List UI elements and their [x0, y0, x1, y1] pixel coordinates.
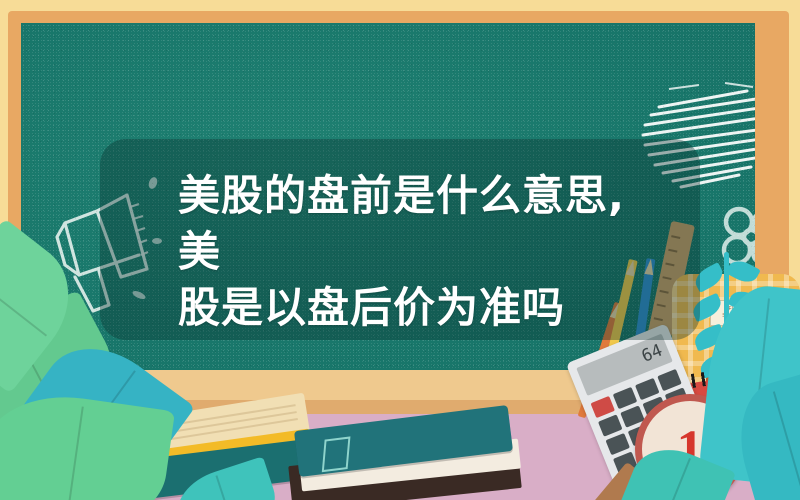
- banner-canvas: Flora Stationery 64 1: [0, 0, 800, 500]
- page-title: 美股的盘前是什么意思,美 股是以盘后价为准吗: [178, 168, 648, 336]
